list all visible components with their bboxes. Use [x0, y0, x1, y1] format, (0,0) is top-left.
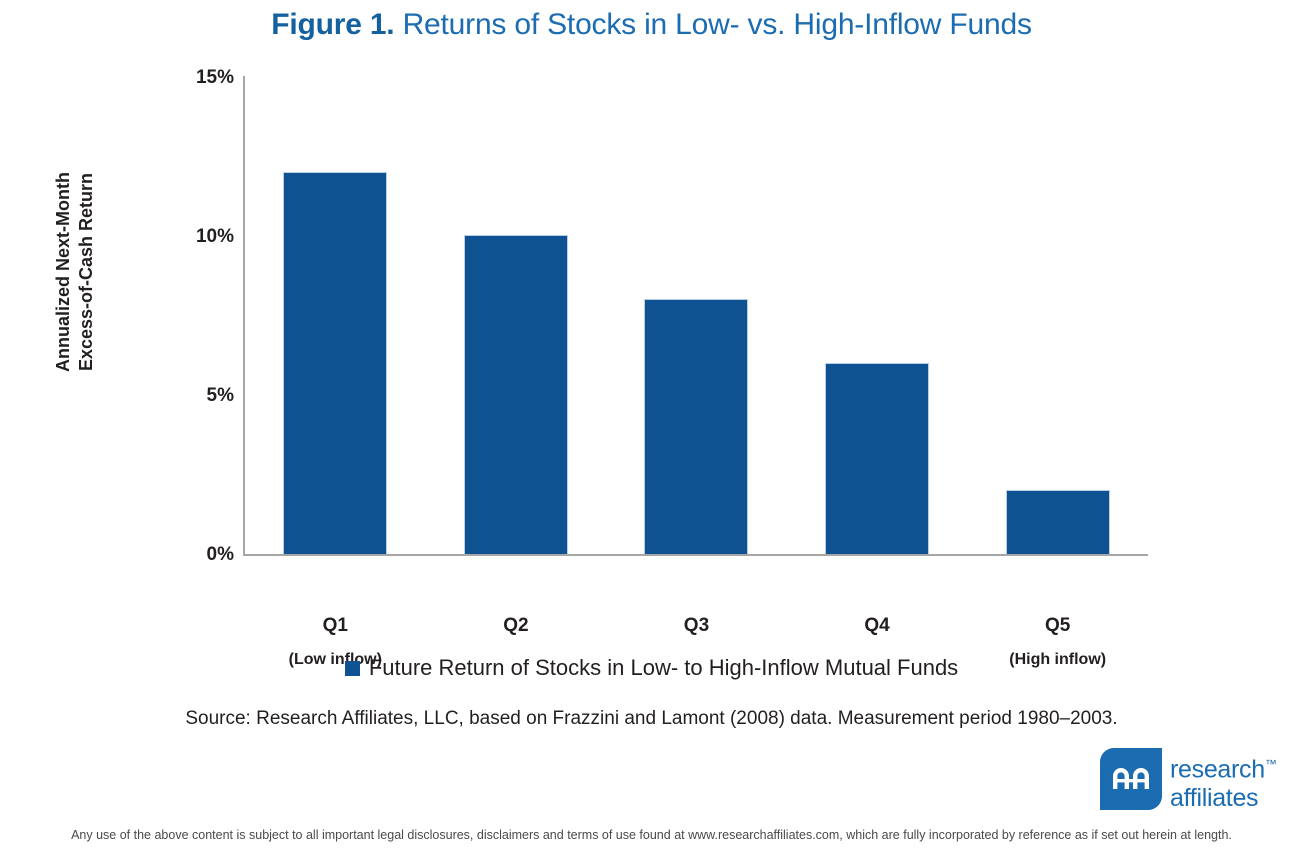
bar-q5[interactable]: [1006, 490, 1110, 554]
y-tick-0: 0%: [168, 545, 234, 564]
legend-swatch-icon: [345, 661, 360, 676]
research-affiliates-wordmark: research™ affiliates: [1170, 750, 1277, 813]
bar-q3[interactable]: [644, 299, 748, 554]
bar-series: [245, 76, 1148, 554]
x-label-q4: Q4: [787, 614, 968, 638]
bar-q4[interactable]: [825, 363, 929, 554]
chart-legend: Future Return of Stocks in Low- to High-…: [0, 655, 1303, 681]
plot-area: [243, 76, 1148, 554]
y-axis-ticks: 15% 10% 5% 0%: [168, 60, 234, 560]
x-label-q2: Q2: [426, 614, 607, 638]
x-label-q3: Q3: [606, 614, 787, 638]
bar-q2[interactable]: [464, 235, 568, 554]
x-axis-line: [243, 554, 1148, 556]
bar-chart: Annualized Next-Month Excess-of-Cash Ret…: [0, 60, 1303, 640]
logo-line2: affiliates: [1170, 784, 1277, 813]
bar-q1[interactable]: [283, 172, 387, 554]
bar-slot-q5: [967, 76, 1148, 554]
x-label-q5: Q5: [967, 614, 1148, 638]
y-axis-title: Annualized Next-Month Excess-of-Cash Ret…: [52, 112, 96, 432]
page-title: Figure 1. Returns of Stocks in Low- vs. …: [0, 6, 1303, 44]
y-tick-5: 5%: [168, 386, 234, 405]
logo-line1: research: [1170, 755, 1265, 783]
logo-trademark: ™: [1265, 757, 1277, 771]
bar-slot-q2: [426, 76, 607, 554]
figure-number: Figure 1.: [271, 8, 394, 41]
bar-slot-q3: [606, 76, 787, 554]
y-axis-title-line1: Annualized Next-Month: [52, 112, 75, 432]
source-note: Source: Research Affiliates, LLC, based …: [0, 706, 1303, 732]
research-affiliates-logo: research™ affiliates: [1100, 748, 1296, 810]
figure-title-text: Returns of Stocks in Low- vs. High-Inflo…: [394, 8, 1031, 41]
legal-disclaimer: Any use of the above content is subject …: [0, 827, 1303, 843]
y-tick-10: 10%: [168, 227, 234, 246]
y-axis-title-line2: Excess-of-Cash Return: [75, 112, 98, 432]
legend-label: Future Return of Stocks in Low- to High-…: [369, 655, 958, 681]
research-affiliates-mark-icon: [1100, 748, 1162, 810]
x-label-q1: Q1: [245, 614, 426, 638]
bar-slot-q1: [245, 76, 426, 554]
y-tick-15: 15%: [168, 68, 234, 87]
bar-slot-q4: [787, 76, 968, 554]
